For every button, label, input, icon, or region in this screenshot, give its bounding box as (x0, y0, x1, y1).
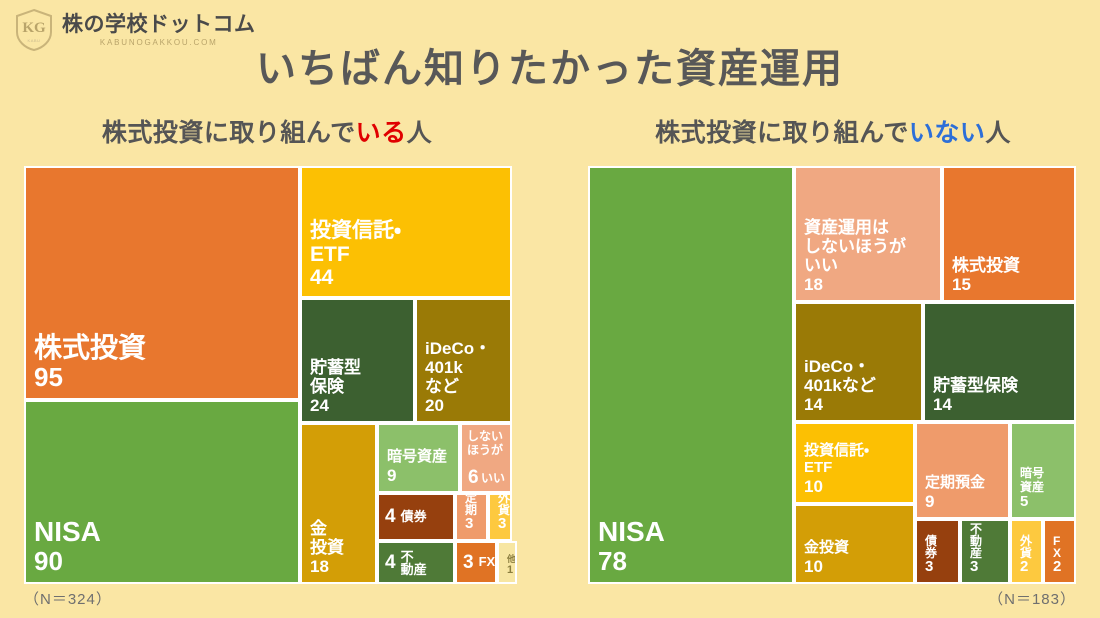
treemap-tile: 定期預金9 (915, 422, 1010, 519)
tile-value: 90 (34, 547, 290, 576)
tile-label: FX (479, 555, 496, 570)
treemap-tile: 株式投資15 (942, 166, 1076, 302)
tile-label: 定期預金 (925, 475, 1000, 492)
treemap-tile: 貯蓄型保険14 (923, 302, 1076, 422)
tile-label: 債券 (401, 510, 427, 525)
treemap-tile: 外貨3 (488, 493, 512, 541)
tile-label: 株式投資 (952, 256, 1066, 275)
tile-value: 3 (925, 559, 950, 576)
tile-value: 3 (970, 559, 1000, 576)
treemap-tile: 4不動産 (377, 541, 455, 584)
treemap-tile: iDeCo・401kなど20 (415, 298, 512, 423)
tile-label: iDeCo・401kなど (425, 339, 502, 396)
treemap-tile: NISA78 (588, 166, 794, 584)
treemap-tile: 金投資10 (794, 504, 915, 584)
tile-value: 14 (933, 395, 1066, 414)
tile-value: 3 (463, 552, 474, 573)
tile-value: 9 (925, 492, 1000, 511)
treemap-tile: 株式投資95 (24, 166, 300, 400)
panel-header-right-suffix: 人 (985, 119, 1011, 147)
tile-value: 20 (425, 396, 502, 415)
page-title: いちばん知りたかった資産運用 (0, 36, 1100, 94)
treemap-tile: FX2 (1043, 519, 1076, 584)
panel-header-right: 株式投資に取り組んでいない人 (588, 113, 1078, 149)
tile-label: NISA (598, 516, 784, 547)
tile-value: 2 (1020, 559, 1033, 576)
tile-label: 資産運用はしないほうがいい (804, 218, 932, 275)
treemap-tile: 投資信託・ETF10 (794, 422, 915, 504)
svg-text:KG: KG (22, 20, 46, 36)
panel-header-left-suffix: 人 (407, 119, 433, 147)
panel-header-left: 株式投資に取り組んでいる人 (22, 113, 512, 149)
tile-value: 4 (385, 506, 396, 527)
tile-value: 15 (952, 275, 1066, 294)
treemap-tile: 資産運用はしないほうがいい18 (794, 166, 942, 302)
logo-name: 株の学校ドットコム (62, 14, 256, 35)
tile-value: 6 (468, 467, 479, 488)
tile-value: 10 (804, 477, 905, 496)
treemap-tile: 3FX (455, 541, 497, 584)
tile-label: iDeCo・401kなど (804, 357, 913, 395)
tile-label: 金投資 (804, 540, 905, 557)
treemap-right: NISA78資産運用はしないほうがいい18株式投資15iDeCo・401kなど1… (588, 166, 1076, 584)
tile-label-tail: いい (481, 472, 505, 485)
tile-label: 貯蓄型保険 (933, 376, 1066, 395)
treemap-tile: 金投資18 (300, 423, 377, 584)
tile-label: FX (1053, 535, 1066, 559)
treemap-tile: 暗号資産9 (377, 423, 460, 493)
tile-label: 定期 (465, 493, 478, 516)
panel-header-right-highlight: いない (909, 119, 986, 147)
treemap-tile: 投資信託・ETF44 (300, 166, 512, 298)
treemap-tile: 定期3 (455, 493, 488, 541)
tile-label: 暗号資産 (387, 449, 450, 466)
treemap-tile: しないほうがいい6 (460, 423, 512, 493)
tile-value: 2 (1053, 559, 1066, 576)
tile-value: 78 (598, 547, 784, 576)
treemap-tile: NISA90 (24, 400, 300, 584)
treemap-tile: 4債券 (377, 493, 455, 541)
treemap-tile: 貯蓄型保険24 (300, 298, 415, 423)
tile-value: 10 (804, 557, 905, 576)
panel-header-right-prefix: 株式投資に取り組んで (655, 119, 909, 147)
tile-label: 貯蓄型保険 (310, 358, 405, 396)
sample-size-left: （N＝324） (24, 588, 112, 609)
tile-value: 14 (804, 395, 913, 414)
tile-label: NISA (34, 516, 290, 547)
tile-value: 9 (387, 466, 450, 485)
tile-label: 債券 (925, 535, 950, 559)
treemap-tile: iDeCo・401kなど14 (794, 302, 923, 422)
tile-value: 24 (310, 396, 405, 415)
sample-size-right: （N＝183） (840, 588, 1076, 609)
treemap-tile: 暗号資産5 (1010, 422, 1076, 519)
tile-label: 投資信託・ETF (804, 443, 905, 477)
tile-label: 暗号資産 (1020, 467, 1066, 494)
tile-label: 株式投資 (34, 332, 290, 363)
tile-label: 外貨 (1020, 535, 1033, 559)
treemap-tile: 外貨2 (1010, 519, 1043, 584)
tile-label: 外貨 (498, 493, 502, 516)
panel-header-left-highlight: いる (356, 119, 407, 147)
treemap-tile: 債券3 (915, 519, 960, 584)
tile-label: 不動産 (970, 523, 1000, 559)
tile-label: 不動産 (401, 550, 427, 576)
treemap-tile: 不動産3 (960, 519, 1010, 584)
tile-value: 95 (34, 363, 290, 392)
tile-label: 投資信託・ETF (310, 219, 502, 266)
tile-label: しないほうが (467, 429, 505, 457)
tile-value: 4 (385, 552, 396, 573)
tile-value: 3 (498, 516, 502, 533)
tile-value: 5 (1020, 494, 1066, 511)
tile-label: 金投資 (310, 519, 367, 557)
panel-header-left-prefix: 株式投資に取り組んで (102, 119, 356, 147)
tile-value: 18 (310, 557, 367, 576)
tile-value: 44 (310, 266, 502, 290)
treemap-left: 株式投資95NISA90投資信託・ETF44貯蓄型保険24iDeCo・401kな… (24, 166, 512, 584)
tile-value: 3 (465, 516, 478, 533)
tile-value: 18 (804, 275, 932, 294)
treemap-tile: 他1 (497, 541, 517, 584)
